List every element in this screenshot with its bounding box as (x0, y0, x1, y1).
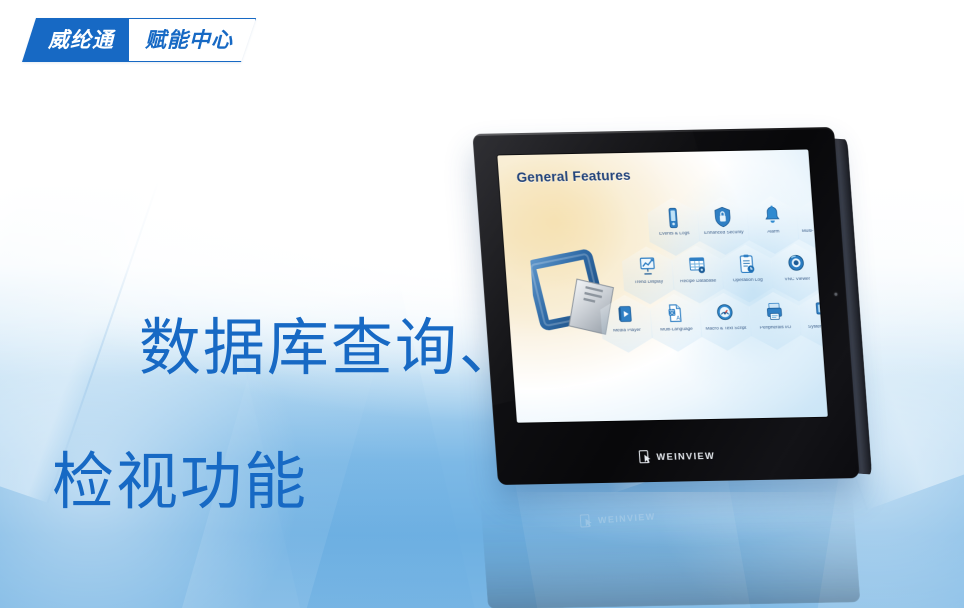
frame-and-page-icon (529, 247, 637, 345)
cursor-panel-icon (639, 450, 653, 464)
media-play-icon (616, 304, 635, 326)
hmi-screen[interactable]: General Features (497, 149, 828, 422)
brand-badge-brand-label: 威纶通 (48, 30, 114, 51)
clipboard-clock-icon (737, 253, 756, 275)
page-title: 数据库查询、 检视功能 (52, 248, 523, 608)
feature-label: Macro & Text Script (696, 326, 757, 332)
screen-title: General Features (516, 167, 631, 185)
feature-label: Operation Log (717, 278, 778, 284)
hmi-brand-text: WEINVIEW (656, 450, 715, 462)
touch-hand-icon (812, 204, 828, 226)
hmi-device-illustration: WEINVIEW General Features (470, 120, 900, 520)
feature-tile-system-settings[interactable]: System Settings (797, 291, 828, 350)
feature-row-3: Media Player 文 A Multi-Lang (599, 291, 828, 354)
bell-icon (763, 205, 782, 227)
feature-label: Media Player (597, 328, 658, 334)
hmi-brand: WEINVIEW (496, 446, 858, 467)
cursor-panel-icon (580, 514, 594, 529)
feature-label: VNC Viewer (767, 277, 828, 283)
monitor-gear-icon (814, 300, 827, 322)
printer-io-icon (765, 301, 784, 323)
feature-tile-macro-text-script[interactable]: Macro & Text Script (698, 292, 753, 351)
database-table-icon (688, 254, 707, 276)
feature-label: Trend Display (618, 280, 679, 286)
feature-label: Recipe Database (668, 279, 729, 285)
feature-label: Events & Logs (644, 231, 705, 237)
brand-badge: 威纶通 赋能中心 (22, 18, 256, 62)
feature-tile-multi-language[interactable]: 文 A Multi-Language (649, 293, 704, 352)
language-file-icon: 文 A (666, 303, 685, 325)
feature-label: Multi-Language (646, 327, 707, 333)
hmi-device-reflection (479, 485, 860, 608)
trend-chart-icon (638, 255, 657, 277)
feature-tile-peripherals-io[interactable]: Peripherals I/O (748, 291, 803, 350)
feature-hex-grid: Events & Logs Enhanced Security (609, 187, 824, 416)
brand-badge-section-label: 赋能中心 (145, 30, 233, 51)
feature-label: Peripherals I/O (745, 325, 806, 331)
feature-label: Multi-Touch Gesture (793, 229, 828, 235)
hmi-device-bezel: General Features (472, 127, 859, 485)
page-title-line-1: 数据库查询、 (139, 311, 523, 384)
feature-label: Alarm (743, 229, 804, 235)
feature-tile-media-player[interactable]: Media Player (599, 294, 654, 353)
gauge-script-icon (715, 302, 734, 324)
vnc-eye-icon (787, 252, 806, 274)
hmi-reflection-brand-text: WEINVIEW (598, 511, 656, 525)
brand-badge-secondary: 赋能中心 (129, 18, 256, 62)
banner-canvas: 威纶通 赋能中心 数据库查询、 检视功能 WEINVIEW (0, 0, 964, 608)
power-led-indicator (834, 293, 837, 296)
screen-warm-arc (497, 149, 684, 338)
feature-label: Enhanced Security (694, 230, 755, 236)
device-log-icon (664, 207, 683, 229)
hmi-device: General Features (472, 127, 859, 485)
page-title-line-2: 检视功能 (52, 449, 523, 516)
shield-lock-icon (713, 206, 732, 228)
brand-badge-primary: 威纶通 (22, 18, 130, 62)
